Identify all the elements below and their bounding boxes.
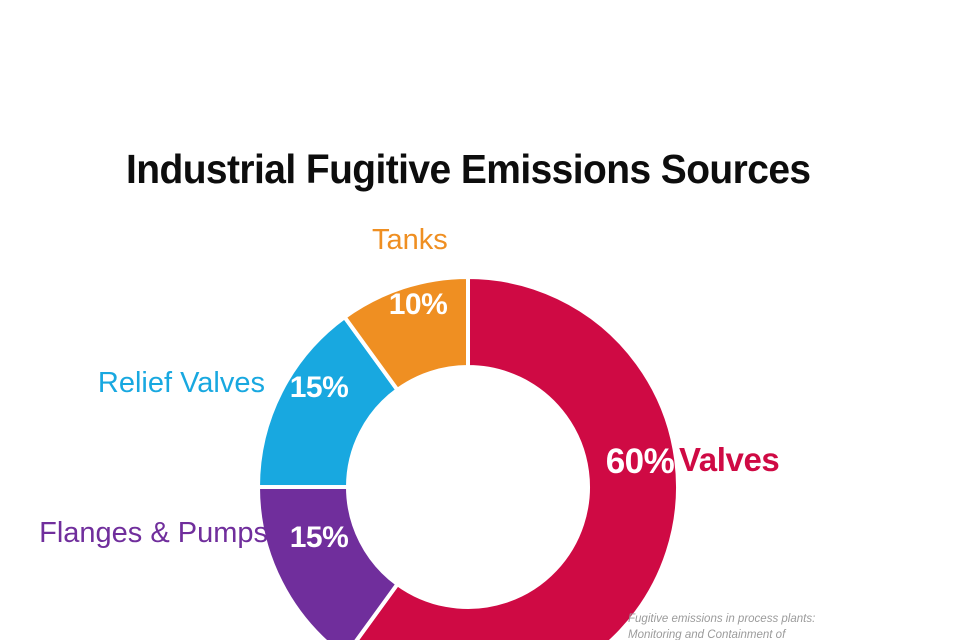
slice-label-valves: Valves	[679, 443, 779, 478]
slice-value-flanges-pumps: 15%	[290, 521, 349, 555]
infographic-canvas: Industrial Fugitive Emissions Sources 60…	[0, 0, 960, 640]
slice-value-relief-valves: 15%	[290, 371, 349, 405]
slice-label-tanks: Tanks	[372, 225, 448, 256]
source-caption: Fugitive emissions in process plants: Mo…	[628, 612, 815, 640]
slice-label-relief-valves: Relief Valves	[98, 368, 265, 399]
slice-value-valves: 60%	[606, 442, 675, 482]
slice-value-tanks: 10%	[389, 288, 448, 322]
slice-label-flanges-pumps: Flanges & Pumps	[39, 518, 268, 549]
